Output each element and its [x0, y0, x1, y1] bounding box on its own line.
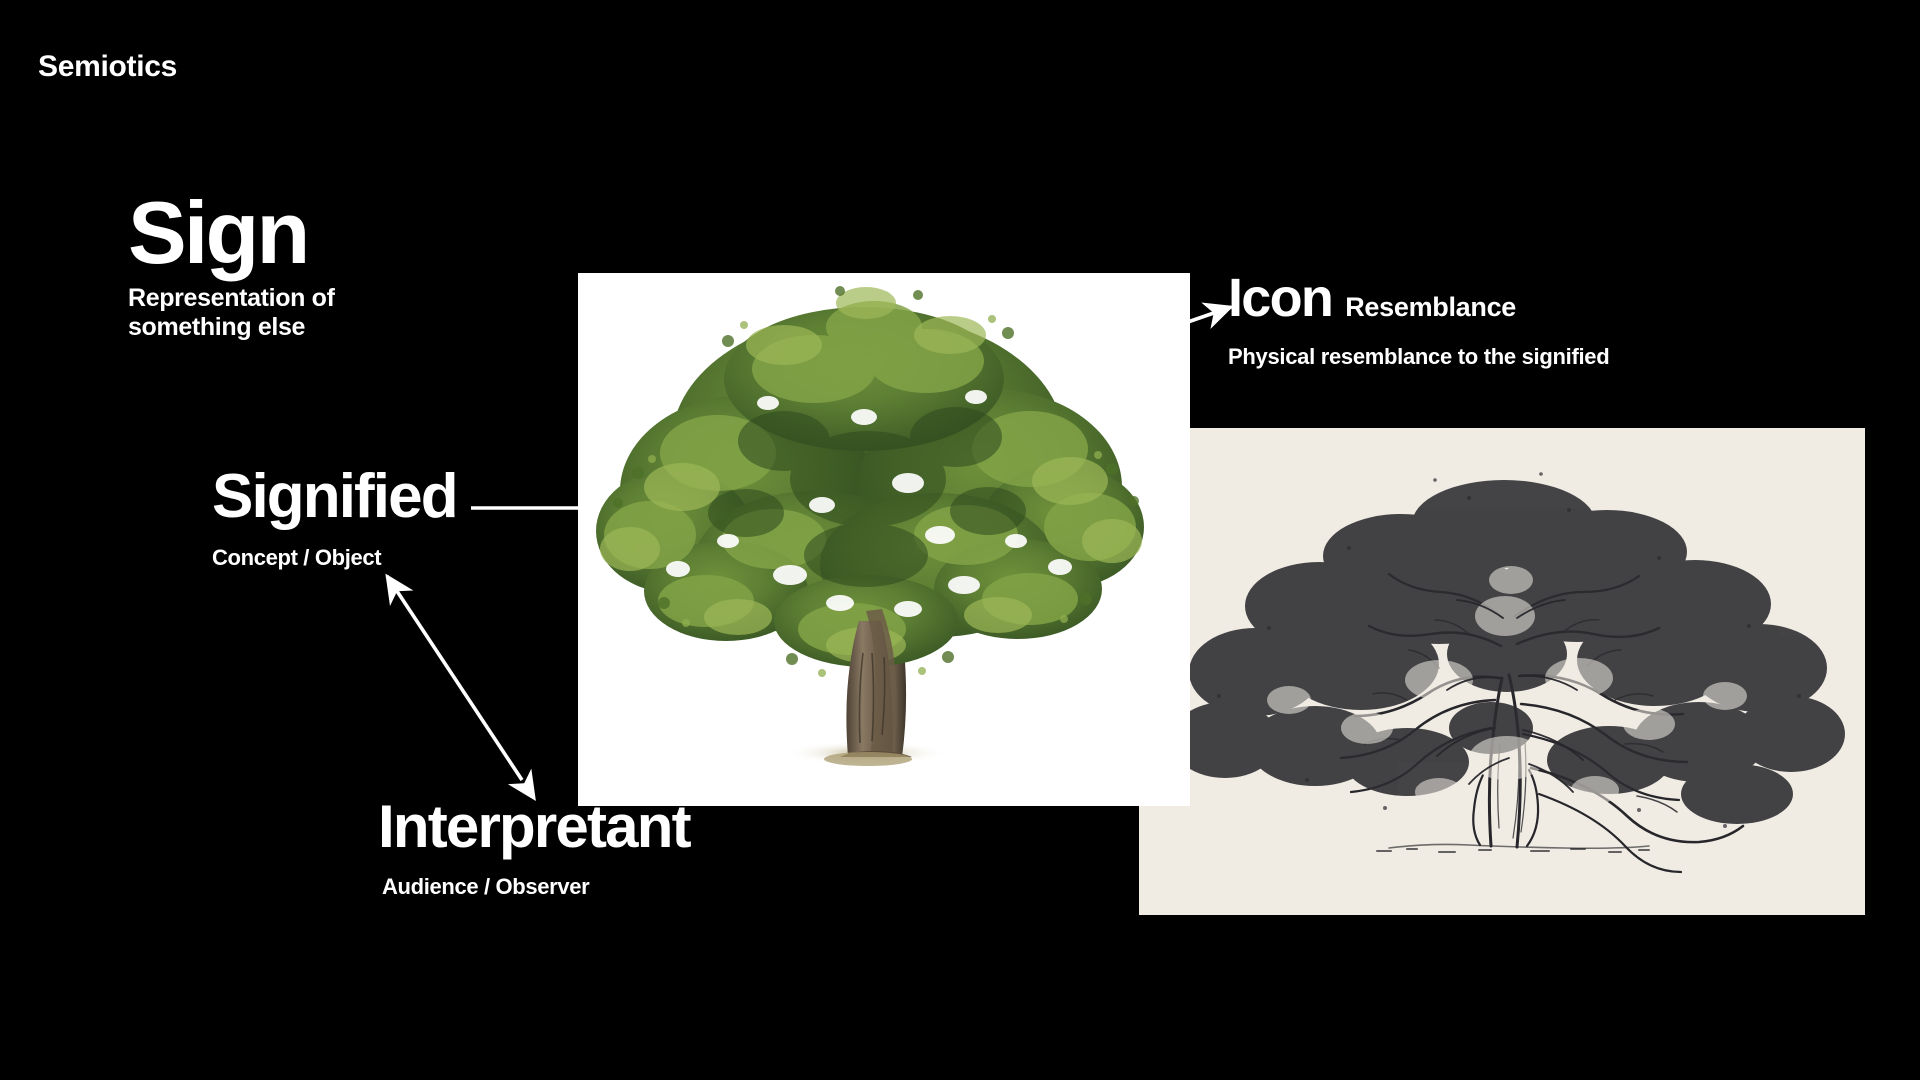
- term-subtitle-sign-line1: Representation of: [128, 284, 335, 313]
- term-subtitle-sign-line2: something else: [128, 313, 335, 342]
- term-label-interpretant: Interpretant: [378, 798, 690, 857]
- term-block-sign: Sign Representation of something else: [128, 190, 335, 342]
- connector-signified-to-interpretant: [387, 576, 522, 780]
- term-label-icon: Icon: [1228, 271, 1332, 325]
- engraving-panel: [1139, 428, 1865, 915]
- term-block-interpretant: Interpretant Audience / Observer: [378, 798, 690, 899]
- tree-engraving-icon: [1139, 428, 1865, 915]
- term-label-signified: Signified: [212, 467, 457, 528]
- connector-photo-to-icon: [1185, 307, 1231, 323]
- term-kind-icon: Resemblance: [1345, 294, 1516, 321]
- term-subtitle-interpretant: Audience / Observer: [378, 874, 690, 900]
- photo-panel: [578, 273, 1190, 806]
- semiotics-slide: Semiotics Sign Representation of somethi…: [0, 0, 1920, 1080]
- term-subtitle-sign: Representation of something else: [128, 284, 335, 342]
- term-block-signified: Signified Concept / Object: [212, 467, 457, 570]
- page-title: Semiotics: [38, 50, 177, 84]
- term-label-sign: Sign: [128, 190, 335, 276]
- tree-photograph: [578, 273, 1190, 806]
- icon-headline: Icon Resemblance: [1228, 271, 1609, 325]
- term-block-icon: Icon Resemblance Physical resemblance to…: [1228, 271, 1609, 370]
- term-subtitle-signified: Concept / Object: [212, 545, 457, 571]
- term-description-icon: Physical resemblance to the signified: [1228, 344, 1609, 370]
